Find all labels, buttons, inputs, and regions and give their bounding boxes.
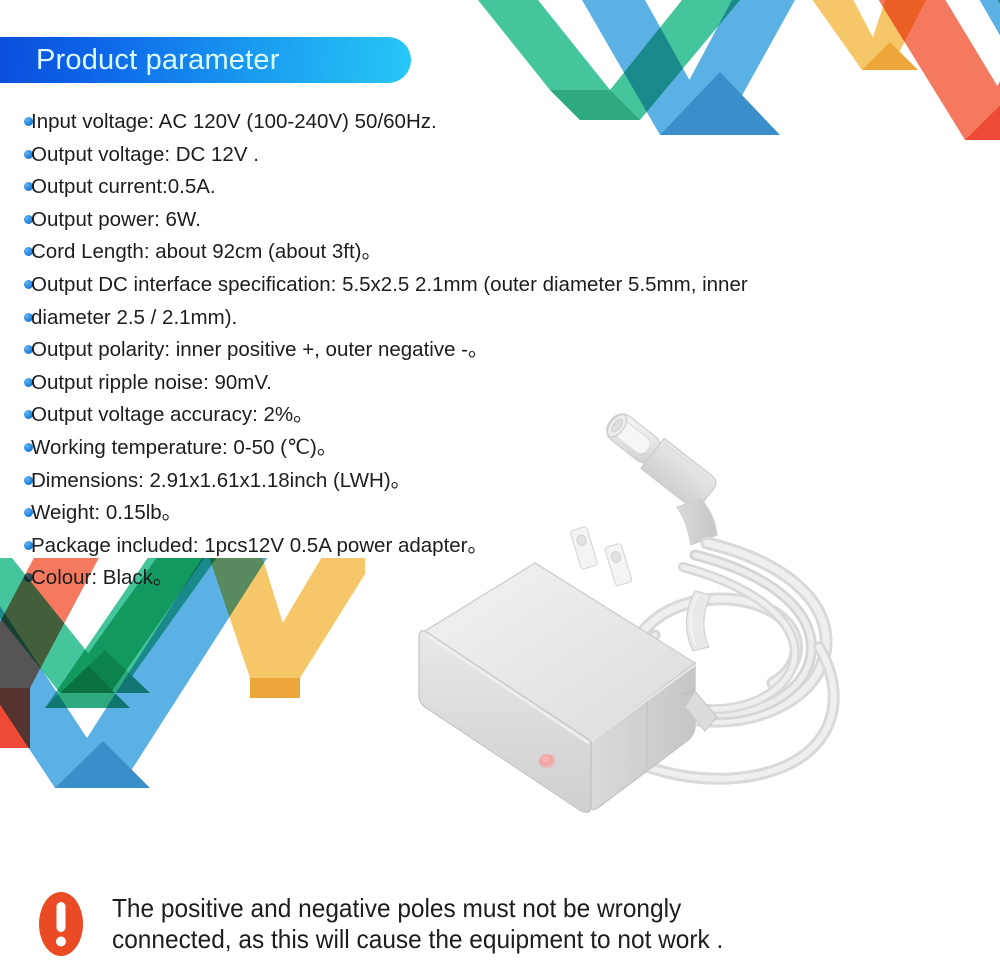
spec-label: Output polarity: inner positive +, outer… (31, 338, 489, 361)
list-item: Output power: 6W. (24, 204, 854, 237)
warning-text: The positive and negative poles must not… (112, 893, 723, 955)
ribbon-yellow (770, 0, 957, 70)
warning-line-1: The positive and negative poles must not… (112, 893, 723, 924)
spec-label: Cord Length: about 92cm (about 3ft)。 (31, 240, 382, 263)
ribbon-green-2 (940, 0, 1000, 50)
product-photo-power-adapter (395, 395, 995, 820)
ac-plug-prongs (570, 518, 632, 594)
list-item: Output polarity: inner positive +, outer… (24, 334, 854, 367)
warning-notice: The positive and negative poles must not… (30, 890, 970, 958)
list-item: Cord Length: about 92cm (about 3ft)。 (24, 236, 854, 269)
decorative-chevron-pattern-bottom (0, 558, 365, 818)
spec-label: Colour: Black。 (31, 566, 173, 589)
product-spec-image: Product parameter Input voltage: AC 120V… (0, 0, 1000, 968)
ribbon-green (470, 0, 790, 120)
spec-label: Output voltage: DC 12V . (31, 143, 259, 166)
list-item: diameter 2.5 / 2.1mm). (24, 302, 854, 335)
spec-label: Output ripple noise: 90mV. (31, 371, 272, 394)
warning-line-2: connected, as this will cause the equipm… (112, 924, 723, 955)
spec-label: Output voltage accuracy: 2%。 (31, 403, 314, 426)
spec-label: Output power: 6W. (31, 208, 201, 231)
spec-label: Package included: 1pcs12V 0.5A power ada… (31, 534, 488, 557)
list-item: Input voltage: AC 120V (100-240V) 50/60H… (24, 106, 854, 139)
list-item: Output voltage: DC 12V . (24, 139, 854, 172)
page-title: Product parameter (0, 46, 280, 75)
spec-label: Working temperature: 0-50 (℃)。 (31, 436, 337, 459)
spec-label: Output DC interface specification: 5.5x2… (31, 273, 748, 296)
section-title-banner: Product parameter (0, 37, 411, 83)
spec-label: Input voltage: AC 120V (100-240V) 50/60H… (31, 110, 437, 133)
list-item: Output DC interface specification: 5.5x2… (24, 269, 854, 302)
spec-label: Weight: 0.15lb。 (31, 501, 182, 524)
spec-label: diameter 2.5 / 2.1mm). (31, 306, 237, 329)
dc-barrel-plug (602, 409, 720, 545)
led-indicator (539, 754, 555, 768)
spec-label: Output current:0.5A. (31, 175, 216, 198)
spec-label: Dimensions: 2.91x1.61x1.18inch (LWH)。 (31, 469, 411, 492)
warning-exclamation-icon (38, 891, 84, 957)
list-item: Output current:0.5A. (24, 171, 854, 204)
ribbon-blue-2 (925, 0, 1000, 140)
